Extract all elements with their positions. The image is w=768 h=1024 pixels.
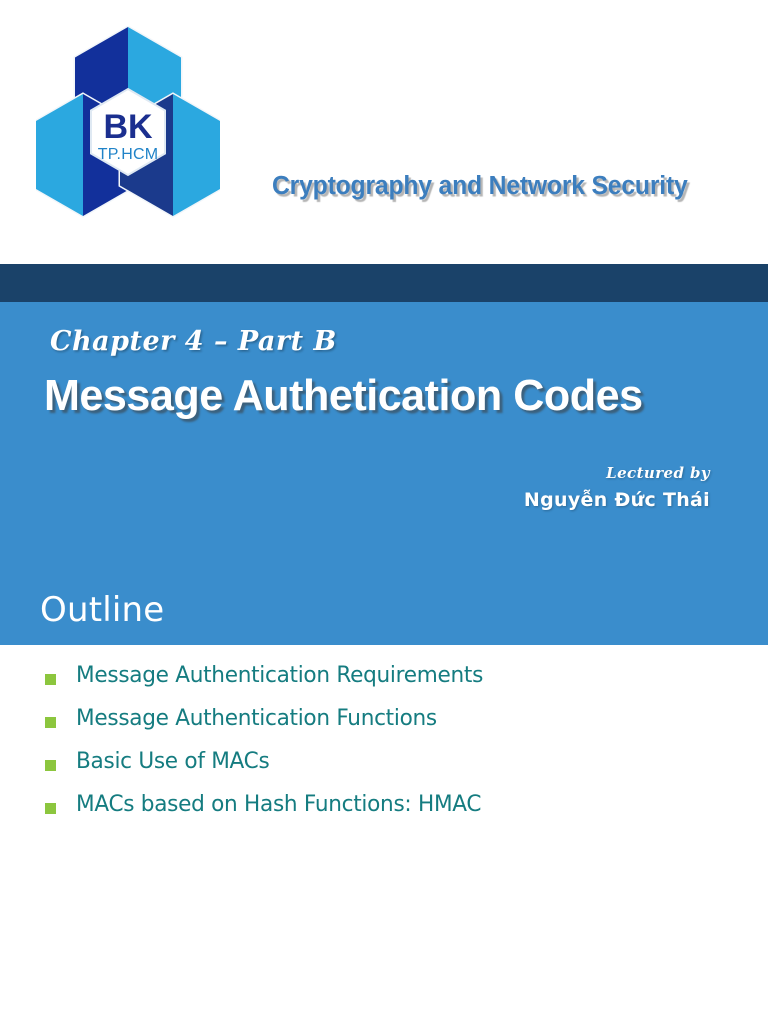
slide-title: Message Authetication Codes — [44, 374, 643, 418]
hcmut-bach-khoa-logo: BK TP.HCM — [36, 26, 220, 218]
section-heading-outline: Outline — [40, 590, 164, 630]
list-item-label: Basic Use of MACs — [76, 750, 269, 773]
logo-bk-text: BK — [103, 108, 153, 146]
square-bullet-icon — [45, 803, 56, 814]
slide-header: BK TP.HCM Cryptography and Network Secur… — [0, 0, 768, 264]
list-item: MACs based on Hash Functions: HMAC — [0, 793, 768, 836]
list-item: Basic Use of MACs — [0, 750, 768, 793]
lecturer-block: Lectured by Nguyễn Đức Thái — [524, 464, 710, 511]
outline-list: Message Authentication Requirements Mess… — [0, 664, 768, 836]
slide-body: Message Authentication Requirements Mess… — [0, 645, 768, 1005]
list-item-label: Message Authentication Requirements — [76, 664, 483, 687]
square-bullet-icon — [45, 674, 56, 685]
list-item-label: MACs based on Hash Functions: HMAC — [76, 793, 481, 816]
square-bullet-icon — [45, 760, 56, 771]
lectured-by-label: Lectured by — [524, 464, 710, 482]
header-divider-band — [0, 264, 768, 302]
square-bullet-icon — [45, 717, 56, 728]
chapter-label: Chapter 4 – Part B — [50, 326, 337, 357]
title-hero-panel: Chapter 4 – Part B Message Authetication… — [0, 302, 768, 645]
course-title: Cryptography and Network Security — [272, 172, 688, 201]
lecturer-name: Nguyễn Đức Thái — [524, 489, 710, 511]
list-item: Message Authentication Functions — [0, 707, 768, 750]
logo-tphcm-text: TP.HCM — [98, 146, 158, 163]
list-item: Message Authentication Requirements — [0, 664, 768, 707]
list-item-label: Message Authentication Functions — [76, 707, 437, 730]
